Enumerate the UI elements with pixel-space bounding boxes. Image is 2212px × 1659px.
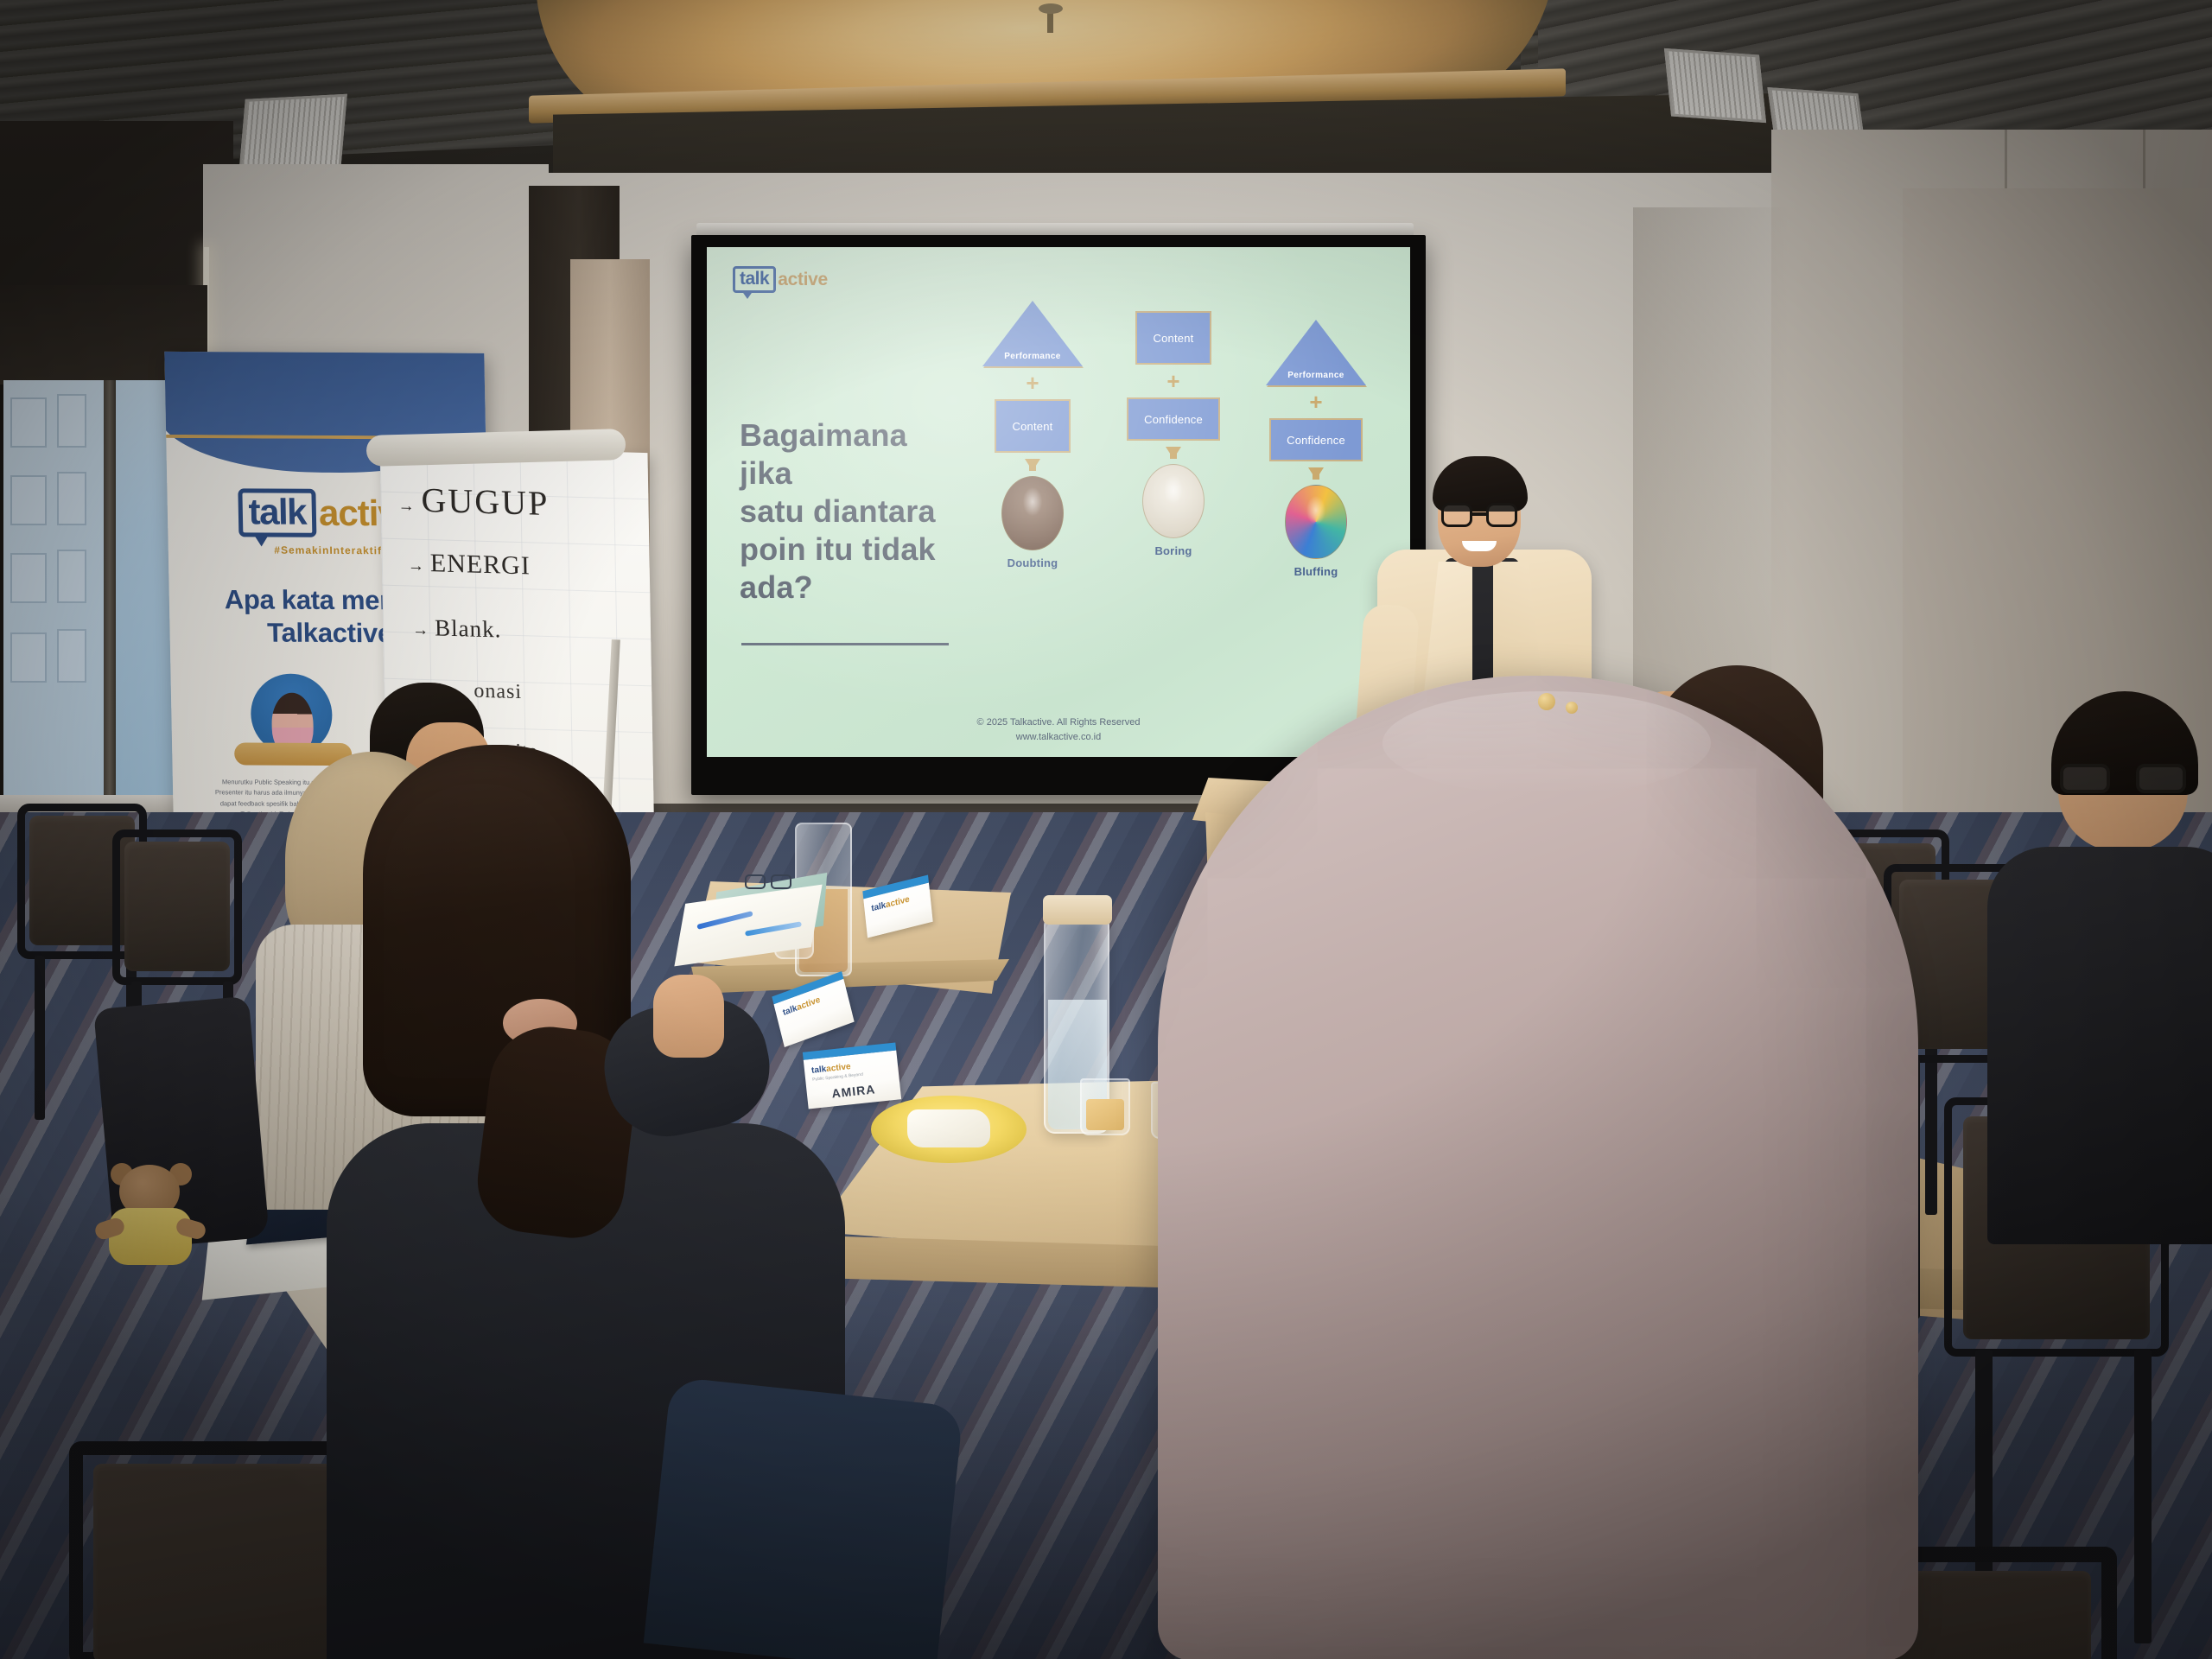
ac-vent-icon	[1664, 48, 1766, 123]
result-label: Bluffing	[1251, 565, 1381, 578]
result-label: Boring	[1109, 544, 1238, 557]
slide-underline-rule	[741, 643, 949, 645]
slide-copyright: © 2025 Talkactive. All Rights Reserved	[707, 715, 1410, 730]
square-shape: Content	[1135, 311, 1211, 365]
flipchart-line-text: GUGUP	[421, 480, 550, 523]
name-card[interactable]: talkactive Public Speaking & Beyond AMIR…	[803, 1043, 901, 1109]
slide-headline-line: ada?	[740, 569, 956, 607]
name-card-logo: talkactive	[871, 894, 910, 913]
slide-diagram: Performance + Content Doubting Content +…	[966, 283, 1398, 690]
yellow-plate[interactable]	[871, 1096, 1027, 1163]
slide-logo-talk: talk	[740, 269, 769, 289]
exterior-window	[10, 553, 47, 603]
arrow-right-icon: →	[412, 621, 429, 641]
flipchart-line: →ENERGI	[408, 548, 531, 581]
slide-headline: Bagaimana jika satu diantara poin itu ti…	[740, 416, 956, 607]
slide-logo-active: active	[778, 270, 828, 290]
slide-talkactive-logo: talk active	[733, 266, 828, 293]
flipchart-line-text: onasi	[474, 680, 522, 705]
arrow-right-icon: →	[408, 556, 425, 576]
window-mullion	[104, 380, 116, 795]
exterior-window	[57, 629, 86, 683]
exterior-window	[10, 397, 47, 448]
exterior-window	[10, 475, 47, 525]
hand	[653, 975, 724, 1058]
plus-operator: +	[968, 372, 1097, 394]
torso	[1987, 847, 2212, 1244]
speech-bubble-icon: talk	[733, 266, 776, 293]
speech-bubble-icon: talk	[238, 488, 316, 537]
flipchart-line: →GUGUP	[397, 479, 550, 524]
teddy-bear-keychain[interactable]	[102, 1165, 199, 1268]
jeans	[644, 1376, 964, 1659]
result-avatar	[1001, 476, 1064, 550]
flipchart-line: →Blank.	[412, 614, 502, 644]
slide-headline-line: poin itu tidak	[740, 531, 956, 569]
result-avatar	[1285, 485, 1347, 559]
meeting-room-scene: talk active Bagaimana jika satu diantara…	[0, 0, 2212, 1659]
slide-footer: © 2025 Talkactive. All Rights Reserved w…	[707, 715, 1410, 745]
shape-label: Performance	[982, 352, 1083, 361]
slide-headline-line: satu diantara	[740, 493, 956, 531]
result-label: Doubting	[968, 556, 1097, 569]
snack-glass[interactable]	[1080, 1078, 1130, 1135]
diagram-column-3: Performance + Confidence Bluffing	[1251, 320, 1381, 578]
rectangle-shape: Confidence	[1269, 418, 1363, 461]
square-shape: Content	[995, 399, 1071, 453]
hijab	[1158, 676, 1918, 1659]
plus-operator: +	[1109, 370, 1238, 392]
smile	[1462, 541, 1497, 551]
teddy-body	[109, 1208, 192, 1265]
flipchart-line-text: Blank.	[435, 614, 502, 642]
eyeglasses-on-table[interactable]	[745, 874, 798, 892]
hijab-pin	[1538, 693, 1555, 710]
arrow-right-icon: →	[398, 497, 416, 517]
shape-label: Performance	[1266, 371, 1366, 380]
tissue	[907, 1109, 990, 1147]
slide-headline-line: Bagaimana jika	[740, 416, 956, 493]
result-avatar	[1142, 464, 1205, 538]
arrow-down-icon	[1308, 467, 1324, 480]
triangle-shape: Performance	[982, 301, 1083, 366]
banner-logo-talk: talk	[248, 491, 306, 531]
diagram-column-1: Performance + Content Doubting	[968, 301, 1097, 569]
hijab-pin	[1566, 702, 1578, 714]
exterior-window	[57, 472, 86, 525]
presentation-slide: talk active Bagaimana jika satu diantara…	[707, 247, 1410, 757]
eyeglasses-icon	[1441, 503, 1519, 527]
slide-website: www.talkactive.co.id	[707, 730, 1410, 745]
arrow-down-icon	[1166, 447, 1181, 459]
name-card-logo: talkactive	[782, 995, 822, 1018]
exterior-window	[57, 394, 86, 448]
exterior-window	[57, 550, 86, 603]
diagram-column-2: Content + Confidence Boring	[1109, 311, 1238, 557]
eyeglasses-icon	[2060, 764, 2186, 793]
sprinkler-head-icon	[1044, 7, 1058, 41]
name-card-name: AMIRA	[806, 1079, 900, 1103]
flipchart-line-text: ENERGI	[430, 549, 531, 580]
projector-screen: talk active Bagaimana jika satu diantara…	[691, 235, 1426, 795]
rectangle-shape: Confidence	[1127, 397, 1220, 441]
plus-operator: +	[1251, 391, 1381, 413]
exterior-window	[10, 632, 47, 683]
arrow-down-icon	[1025, 459, 1040, 471]
triangle-shape: Performance	[1266, 320, 1366, 385]
